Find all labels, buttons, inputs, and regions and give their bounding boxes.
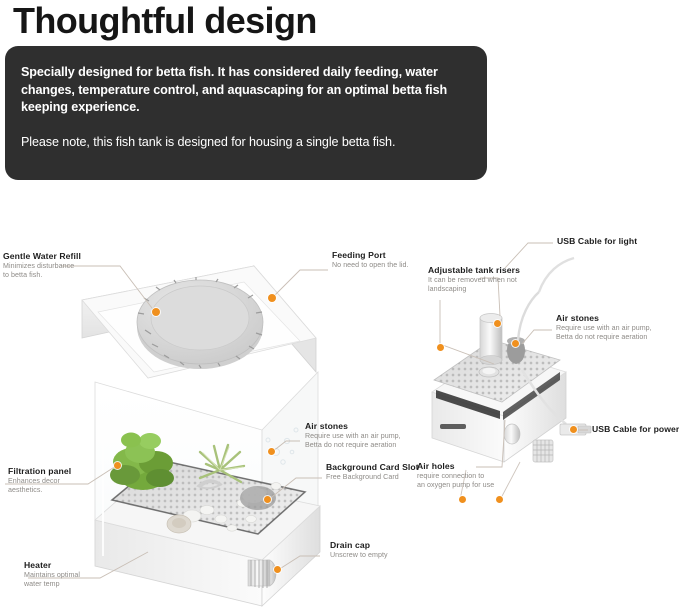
hotspot-filtration-panel (114, 462, 121, 469)
hotspot-background-card (264, 496, 271, 503)
annotation-title: USB Cable for power (592, 424, 679, 435)
annotation-sub: Require use with an air pump, Betta do n… (305, 432, 401, 451)
annotation-gentle-water-refill: Gentle Water Refill Minimizes disturbanc… (3, 251, 81, 281)
annotation-feeding-port: Feeding Port No need to open the lid. (332, 250, 409, 270)
annotation-drain-cap: Drain cap Unscrew to empty (330, 540, 388, 560)
annotation-title: Air stones (556, 313, 652, 324)
annotation-title: Gentle Water Refill (3, 251, 81, 262)
annotation-title: Filtration panel (8, 466, 71, 477)
annotation-title: Drain cap (330, 540, 388, 551)
product-infographic: Thoughtful design Specially designed for… (0, 0, 679, 616)
product-illustration (0, 0, 679, 616)
hotspot-adjustable-riser (494, 320, 501, 327)
hotspot-feeding-port (268, 294, 276, 302)
hotspot-drain-cap (274, 566, 281, 573)
hotspot-usb-power (570, 426, 577, 433)
annotation-title: Air holes (417, 461, 494, 472)
hotspot-mesh-filter (459, 496, 466, 503)
annotation-adjustable-tank-risers: Adjustable tank risers It can be removed… (428, 265, 520, 295)
annotation-air-stones-center: Air stones Require use with an air pump,… (305, 421, 401, 451)
annotation-usb-cable-light: USB Cable for light (557, 236, 637, 247)
hotspot-riser-left (437, 344, 444, 351)
hotspot-air-holes (496, 496, 503, 503)
annotation-title: Heater (24, 560, 80, 571)
annotation-sub: No need to open the lid. (332, 261, 409, 270)
annotation-sub: It can be removed when not landscaping (428, 276, 520, 295)
annotation-sub: Maintains optimal water temp (24, 571, 80, 590)
annotation-background-card-slot: Background Card Slot Free Background Car… (326, 462, 419, 482)
annotation-sub: Require use with an air pump, Betta do n… (556, 324, 652, 343)
annotation-heater: Heater Maintains optimal water temp (24, 560, 80, 590)
annotation-filtration-panel: Filtration panel Enhances decor aestheti… (8, 466, 71, 496)
hotspot-air-stones-center (268, 448, 275, 455)
annotation-title: Air stones (305, 421, 401, 432)
annotation-usb-cable-power: USB Cable for power (592, 424, 679, 435)
annotation-title: Feeding Port (332, 250, 409, 261)
annotation-sub: Minimizes disturbance to betta fish. (3, 262, 81, 281)
annotation-sub: Enhances decor aesthetics. (8, 477, 71, 496)
annotation-title: Background Card Slot (326, 462, 419, 473)
annotation-sub: require connection to an oxygen pump for… (417, 472, 494, 491)
annotation-air-holes: Air holes require connection to an oxyge… (417, 461, 494, 491)
annotation-sub: Free Background Card (326, 473, 419, 482)
annotation-title: USB Cable for light (557, 236, 637, 247)
mesh-filter (533, 440, 553, 462)
annotation-air-stones-right: Air stones Require use with an air pump,… (556, 313, 652, 343)
hotspot-gentle-water-refill (152, 308, 160, 316)
annotation-sub: Unscrew to empty (330, 551, 388, 560)
main-tank-graphic (82, 266, 320, 606)
annotation-title: Adjustable tank risers (428, 265, 520, 276)
hotspot-air-stone-right (512, 340, 519, 347)
drain-cap-knob (248, 560, 276, 588)
